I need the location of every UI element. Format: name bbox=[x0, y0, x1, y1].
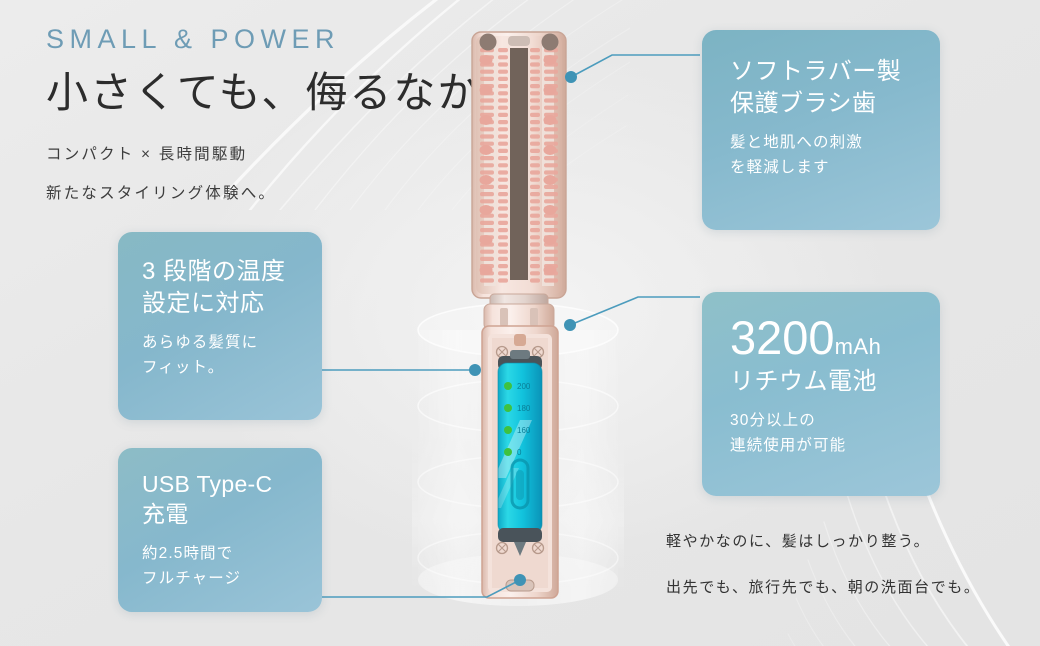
card-body: あらゆる髪質に フィット。 bbox=[142, 330, 322, 380]
feature-card-temperature[interactable]: 3 段階の温度 設定に対応 あらゆる髪質に フィット。 bbox=[118, 232, 322, 420]
closing-copy: 軽やかなのに、髪はしっかり整う。 出先でも、旅行先でも、朝の洗面台でも。 bbox=[666, 530, 981, 597]
card-body: 30分以上の 連続使用が可能 bbox=[730, 408, 940, 458]
battery-capacity-value: 3200 bbox=[730, 311, 835, 364]
closing-line-2: 出先でも、旅行先でも、朝の洗面台でも。 bbox=[666, 576, 981, 597]
lithium-battery-cell: 2001801600 bbox=[494, 350, 542, 556]
card-heading: 3200mAh リチウム電池 bbox=[730, 314, 940, 397]
svg-text:0: 0 bbox=[517, 448, 522, 457]
feature-card-usb-charging[interactable]: USB Type-C 充電 約2.5時間で フルチャージ bbox=[118, 448, 322, 612]
card-heading: USB Type-C 充電 bbox=[142, 470, 322, 530]
feature-card-soft-rubber-brush[interactable]: ソフトラバー製 保護ブラシ歯 髪と地肌への刺激 を軽減します bbox=[702, 30, 940, 230]
card-heading: 3 段階の温度 設定に対応 bbox=[142, 256, 322, 319]
card-body: 約2.5時間で フルチャージ bbox=[142, 541, 322, 591]
battery-capacity-unit: mAh bbox=[835, 334, 882, 359]
infographic-canvas: SMALL & POWER 小さくても、侮るなかれ。 コンパクト × 長時間駆動… bbox=[0, 0, 1040, 646]
svg-text:180: 180 bbox=[517, 404, 531, 413]
brush-head bbox=[472, 32, 566, 330]
svg-text:160: 160 bbox=[517, 426, 531, 435]
handle-cutaway: 2001801600 bbox=[482, 326, 558, 598]
svg-text:200: 200 bbox=[517, 382, 531, 391]
card-heading: ソフトラバー製 保護ブラシ歯 bbox=[730, 56, 940, 119]
closing-line-1: 軽やかなのに、髪はしっかり整う。 bbox=[666, 530, 981, 551]
feature-card-battery[interactable]: 3200mAh リチウム電池 30分以上の 連続使用が可能 bbox=[702, 292, 940, 496]
card-body: 髪と地肌への刺激 を軽減します bbox=[730, 130, 940, 180]
product-illustration: 2001801600 bbox=[398, 8, 638, 620]
